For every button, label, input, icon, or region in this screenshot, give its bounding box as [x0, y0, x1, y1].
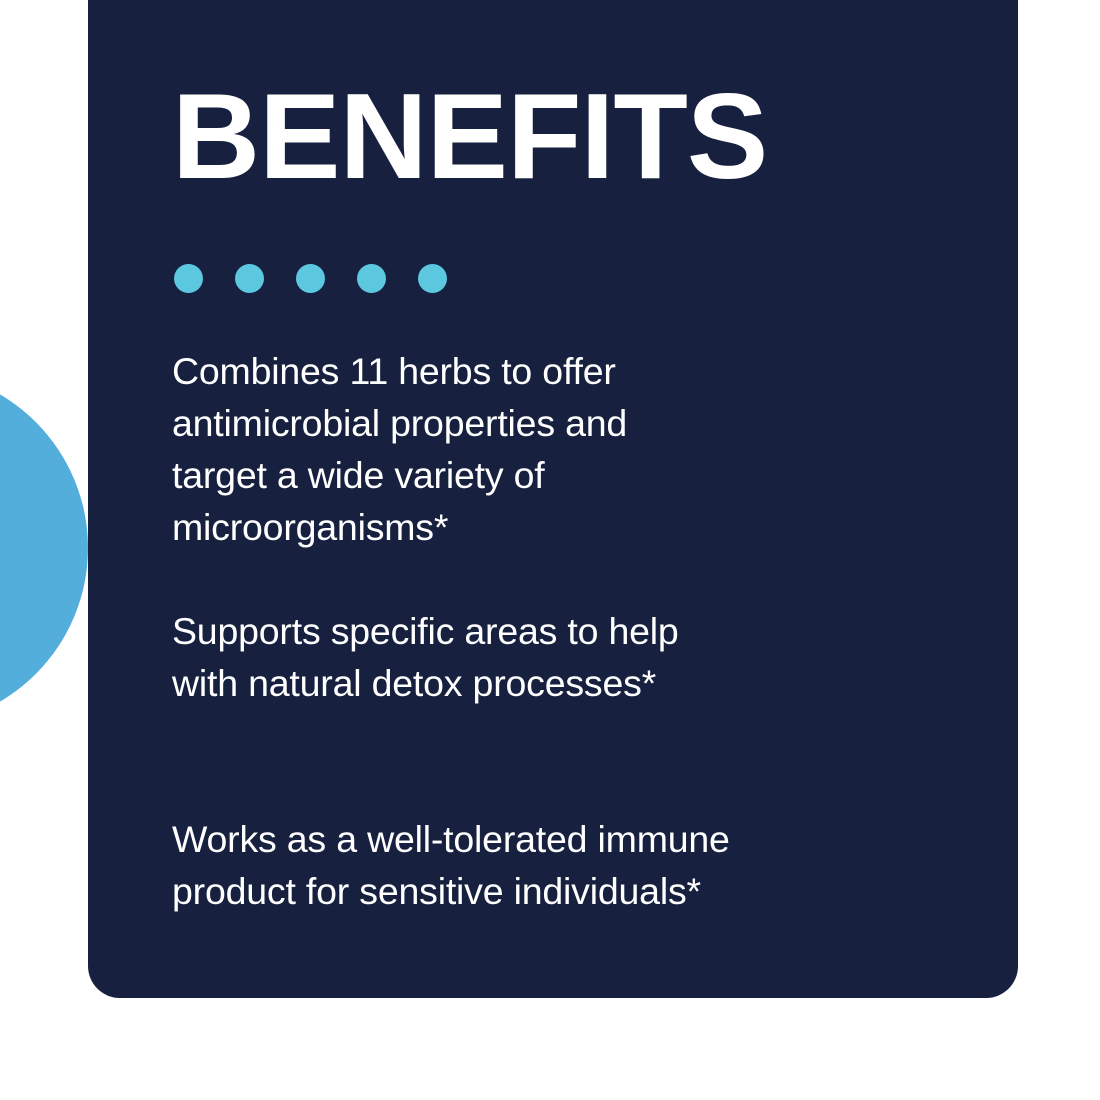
benefit-item: Works as a well-tolerated immune product…	[172, 813, 982, 917]
divider-dot-1	[174, 264, 203, 293]
benefits-card-content: BENEFITS Combines 11 herbs to offer anti…	[88, 0, 1018, 998]
divider-dot-2	[235, 264, 264, 293]
benefits-graphic: BENEFITS Combines 11 herbs to offer anti…	[0, 0, 1100, 1100]
divider-dot-3	[296, 264, 325, 293]
page-title: BENEFITS	[172, 75, 767, 197]
benefit-item: Supports specific areas to help with nat…	[172, 605, 982, 709]
accent-circle-decoration	[0, 370, 88, 726]
benefits-list: Combines 11 herbs to offer antimicrobial…	[172, 345, 982, 917]
benefits-card: BENEFITS Combines 11 herbs to offer anti…	[88, 0, 1018, 998]
divider-dot-4	[357, 264, 386, 293]
dot-divider	[174, 264, 447, 293]
benefit-item: Combines 11 herbs to offer antimicrobial…	[172, 345, 982, 553]
divider-dot-5	[418, 264, 447, 293]
